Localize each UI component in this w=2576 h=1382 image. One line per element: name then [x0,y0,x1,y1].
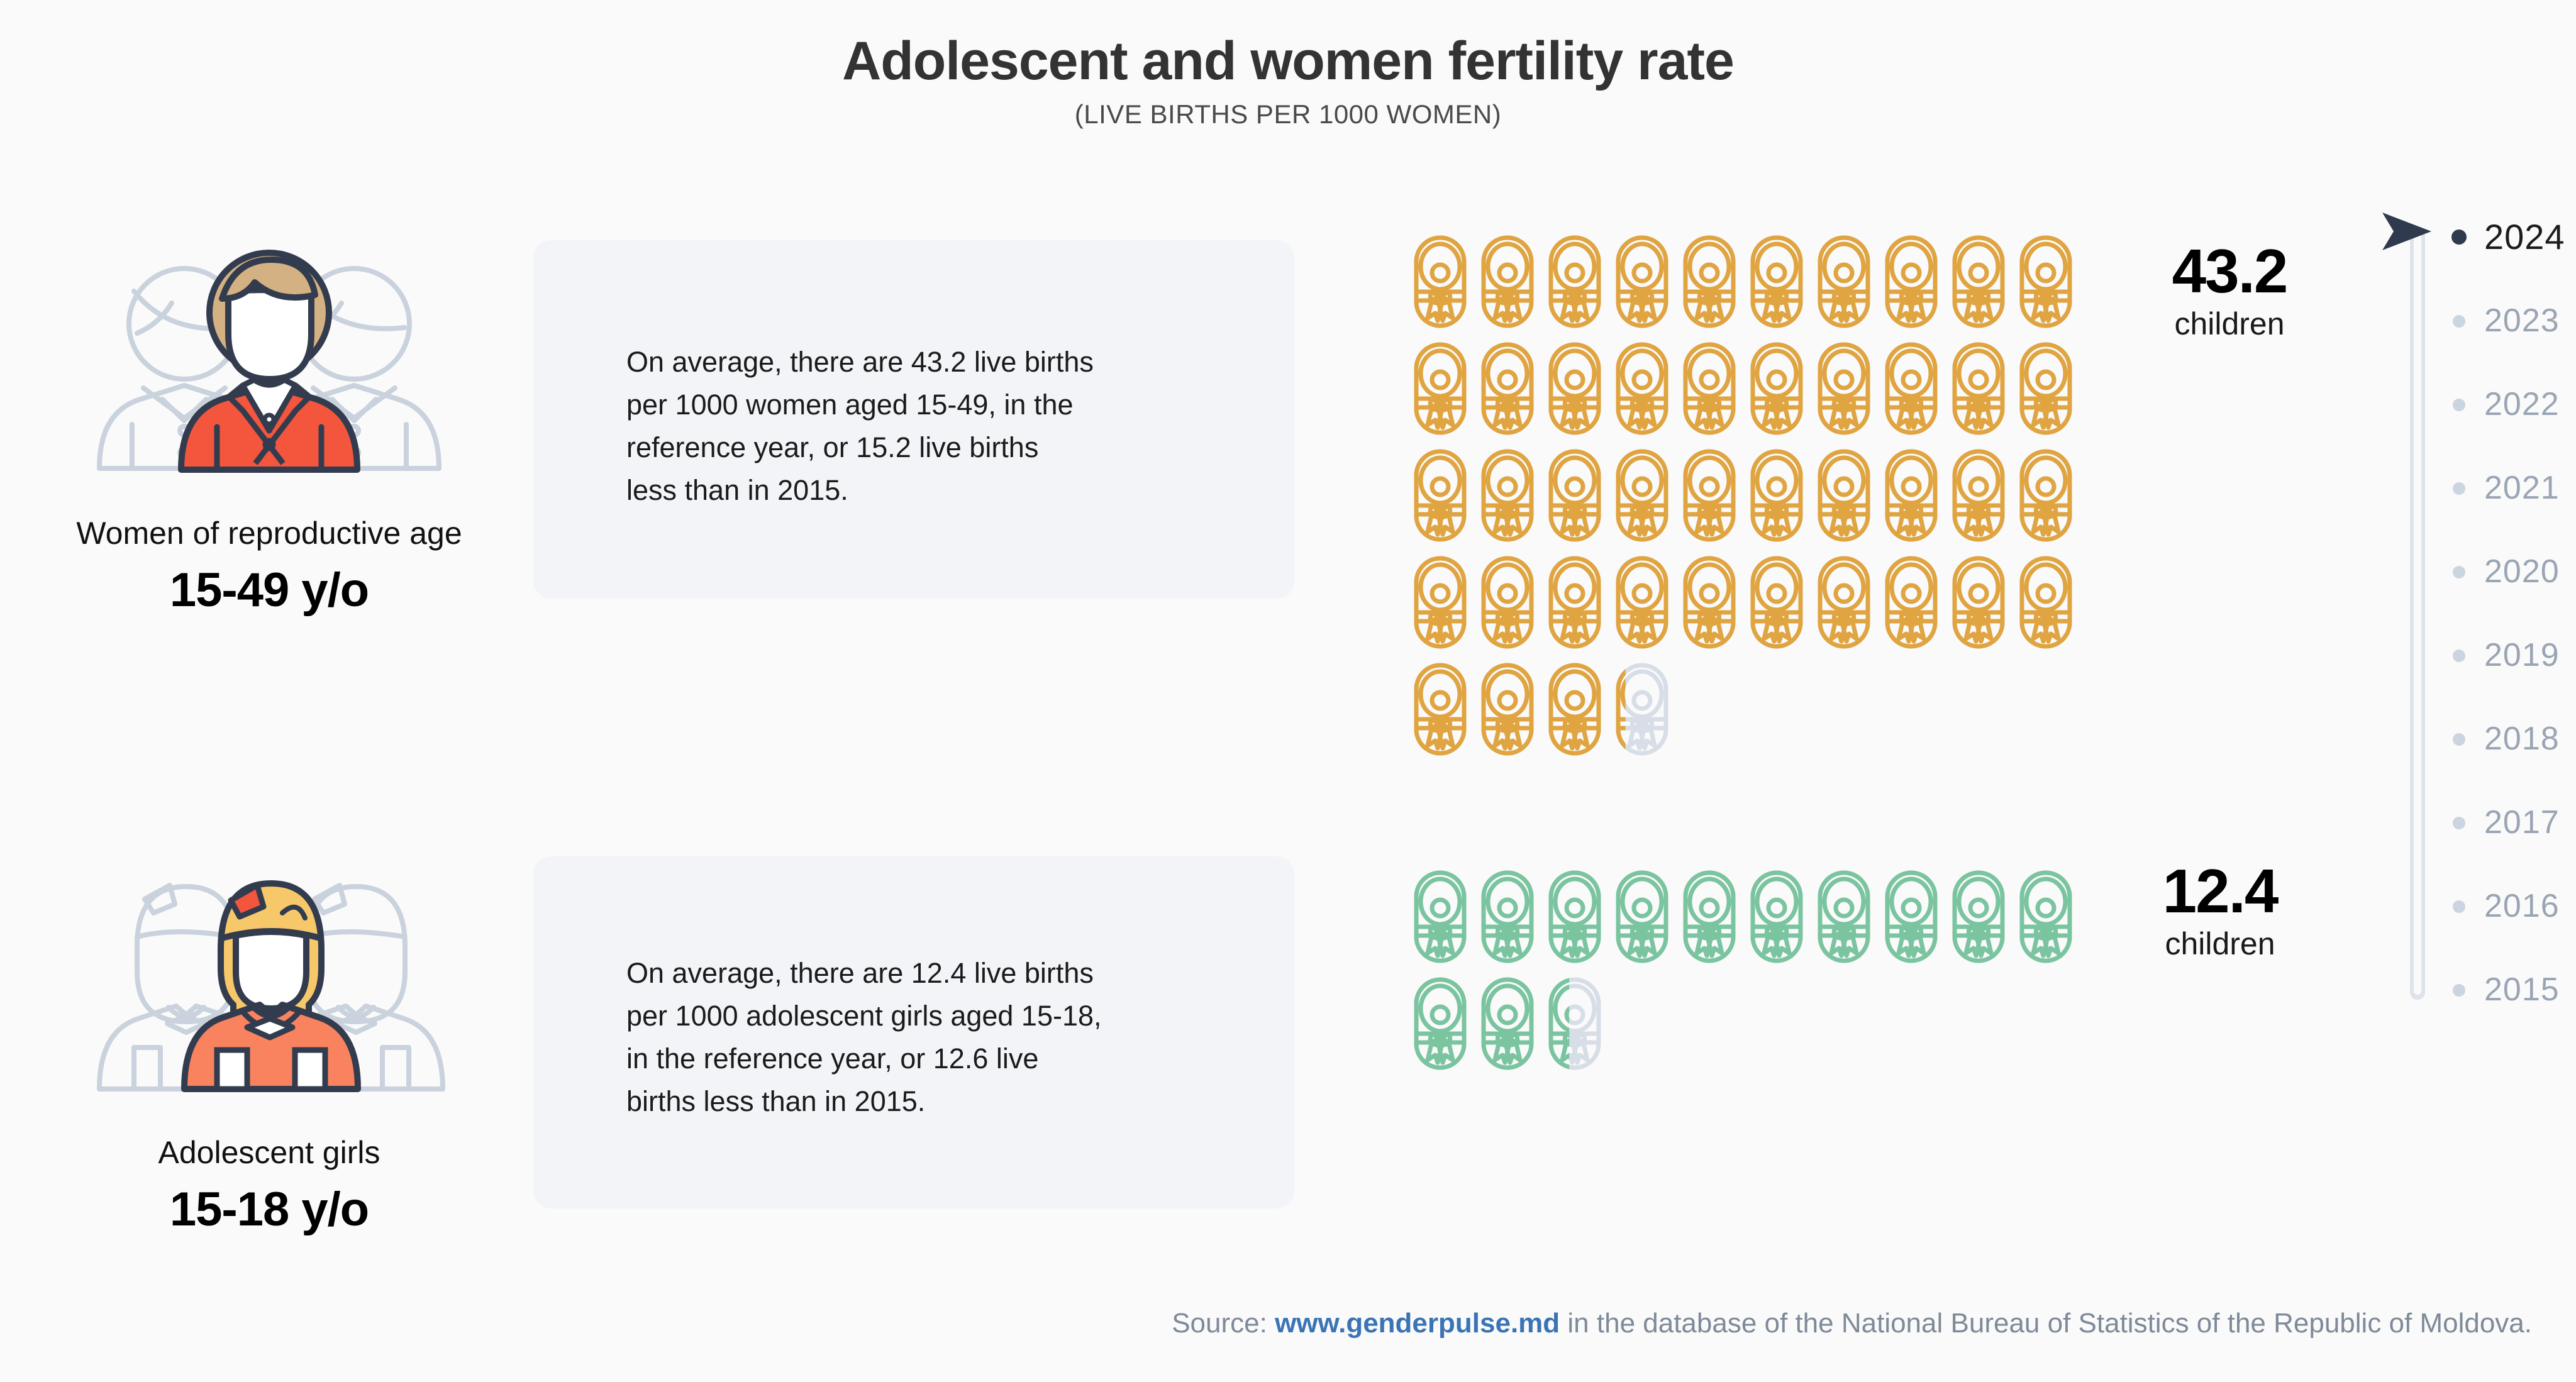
baby-icon [1884,869,1939,965]
baby-icon [1816,555,1872,650]
source-link[interactable]: www.genderpulse.md [1275,1308,1560,1339]
year-timeline[interactable]: 2024202320222021202020192018201720162015 [2384,220,2572,1012]
baby-icon [1816,234,1872,329]
infographic-root: Adolescent and women fertility rate (LIV… [0,0,2576,1382]
baby-icon [1480,234,1535,329]
baby-icon [1614,448,1670,543]
baby-icon [1951,448,2006,543]
source-prefix: Source: [1172,1308,1275,1339]
baby-icon [1682,555,1737,650]
baby-icon [1682,234,1737,329]
baby-icon [1749,234,1804,329]
timeline-dot-icon [2451,229,2467,245]
timeline-year-2020[interactable]: 2020 [2384,555,2572,589]
group-women: Women of reproductive age 15-49 y/o [30,223,508,617]
source-suffix: in the database of the National Bureau o… [1560,1308,2532,1339]
timeline-year-label: 2018 [2484,722,2560,756]
timeline-dot-icon [2453,482,2465,495]
women-age-range: 15-49 y/o [30,563,508,617]
women-stat-unit: children [2097,308,2362,340]
baby-icon [1749,869,1804,965]
baby-icon [1749,555,1804,650]
women-group-icon [74,223,464,506]
timeline-year-label: 2019 [2484,638,2560,672]
baby-icon [1749,341,1804,436]
timeline-year-2021[interactable]: 2021 [2384,471,2572,505]
adolescent-age-range: 15-18 y/o [30,1182,508,1237]
source-footer: Source: www.genderpulse.md in the databa… [0,1308,2576,1339]
baby-icon [1614,555,1670,650]
women-callout-text: On average, there are 43.2 live births p… [626,341,1230,512]
baby-icon [1547,234,1602,329]
baby-icon [1547,869,1602,965]
baby-icon [1413,448,1468,543]
timeline-dot-icon [2453,399,2465,411]
women-callout-box: On average, there are 43.2 live births p… [533,240,1294,599]
baby-icon [1614,341,1670,436]
baby-icon [1884,234,1939,329]
timeline-dot-icon [2453,650,2465,662]
baby-icon [1547,448,1602,543]
baby-icon [1480,555,1535,650]
timeline-dot-icon [2453,733,2465,746]
women-stat: 43.2 children [2097,240,2362,340]
baby-icon [1951,341,2006,436]
timeline-year-label: 2017 [2484,805,2560,839]
baby-icon [1614,869,1670,965]
baby-icon [1884,448,1939,543]
baby-icon [1547,555,1602,650]
baby-icon [1951,234,2006,329]
baby-icon [1816,341,1872,436]
timeline-year-label: 2016 [2484,889,2560,923]
baby-icon [1816,869,1872,965]
timeline-year-2018[interactable]: 2018 [2384,722,2572,756]
baby-icon [1413,976,1468,1071]
adolescent-girls-group-icon [74,843,464,1125]
timeline-year-2017[interactable]: 2017 [2384,805,2572,839]
timeline-rail-inner [2414,231,2421,995]
baby-icon [2018,869,2074,965]
baby-icon [2018,341,2074,436]
baby-icon-partial [1547,976,1602,1071]
baby-icon [1816,448,1872,543]
timeline-year-label: 2021 [2484,471,2560,505]
baby-icon [1480,976,1535,1071]
page-subtitle: (LIVE BIRTHS PER 1000 WOMEN) [0,99,2576,130]
adolescent-stat-unit: children [2088,928,2352,959]
adolescent-pictogram-grid [1413,869,2067,1070]
women-caption: Women of reproductive age [30,515,508,551]
timeline-dot-icon [2453,900,2465,913]
timeline-dot-icon [2453,984,2465,997]
baby-icon [1884,341,1939,436]
baby-icon [2018,234,2074,329]
adolescent-stat: 12.4 children [2088,860,2352,959]
baby-icon [1480,661,1535,757]
timeline-year-label: 2024 [2484,220,2565,254]
baby-icon-partial [1614,661,1670,757]
baby-icon [1614,234,1670,329]
timeline-year-label: 2020 [2484,555,2560,589]
timeline-year-2015[interactable]: 2015 [2384,973,2572,1007]
baby-icon [1884,555,1939,650]
baby-icon [1951,555,2006,650]
women-stat-value: 43.2 [2097,240,2362,302]
baby-icon [1480,341,1535,436]
timeline-year-2022[interactable]: 2022 [2384,387,2572,421]
baby-icon [1413,869,1468,965]
baby-icon [1413,661,1468,757]
timeline-year-2019[interactable]: 2019 [2384,638,2572,672]
timeline-year-2016[interactable]: 2016 [2384,889,2572,923]
adolescent-callout-box: On average, there are 12.4 live births p… [533,856,1294,1208]
baby-icon [1480,869,1535,965]
timeline-year-label: 2022 [2484,387,2560,421]
baby-icon [1951,869,2006,965]
timeline-dot-icon [2453,315,2465,328]
timeline-year-label: 2023 [2484,304,2560,338]
baby-icon [1480,448,1535,543]
women-pictogram-grid [1413,234,2067,756]
timeline-year-label: 2015 [2484,973,2560,1007]
baby-icon [1547,661,1602,757]
baby-icon [2018,555,2074,650]
timeline-year-2024[interactable]: 2024 [2384,220,2572,254]
baby-icon [1547,341,1602,436]
baby-icon [2018,448,2074,543]
baby-icon [1682,341,1737,436]
page-title: Adolescent and women fertility rate [0,30,2576,92]
adolescent-stat-value: 12.4 [2088,860,2352,922]
baby-icon [1413,555,1468,650]
timeline-year-2023[interactable]: 2023 [2384,304,2572,338]
baby-icon [1682,448,1737,543]
baby-icon [1413,234,1468,329]
adolescent-callout-text: On average, there are 12.4 live births p… [626,952,1255,1123]
baby-icon [1682,869,1737,965]
group-adolescent: Adolescent girls 15-18 y/o [30,843,508,1237]
timeline-dot-icon [2453,566,2465,578]
adolescent-caption: Adolescent girls [30,1134,508,1171]
timeline-dot-icon [2453,817,2465,829]
baby-icon [1413,341,1468,436]
baby-icon [1749,448,1804,543]
